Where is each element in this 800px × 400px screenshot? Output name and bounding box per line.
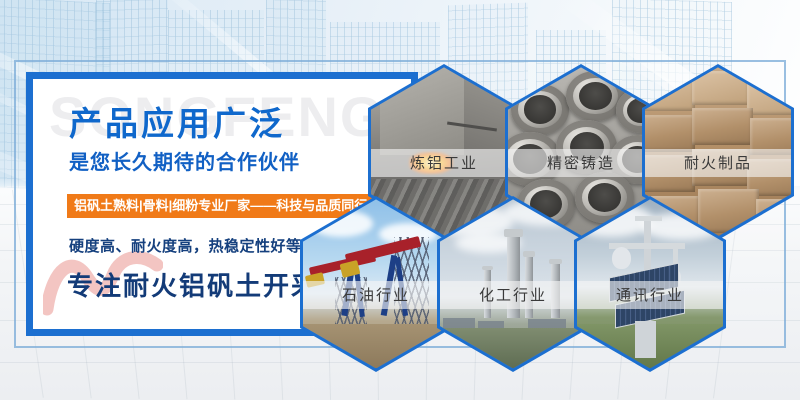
hex-label-communications: 通讯行业 <box>577 281 723 310</box>
industry-hexagon-grid: 炼铝工业 精密铸造 <box>0 0 800 400</box>
promo-banner: SONGFENG 产品应用广泛 是您长久期待的合作伙伴 铝矾土熟料|骨料|细粉专… <box>0 0 800 400</box>
hex-label-aluminum-smelting: 炼铝工业 <box>371 149 517 178</box>
hex-label-precision-casting: 精密铸造 <box>508 149 654 178</box>
hex-label-petroleum-industry: 石油行业 <box>303 281 449 310</box>
hex-label-chemical-industry: 化工行业 <box>440 281 586 310</box>
hex-label-refractory-products: 耐火制品 <box>645 149 791 178</box>
